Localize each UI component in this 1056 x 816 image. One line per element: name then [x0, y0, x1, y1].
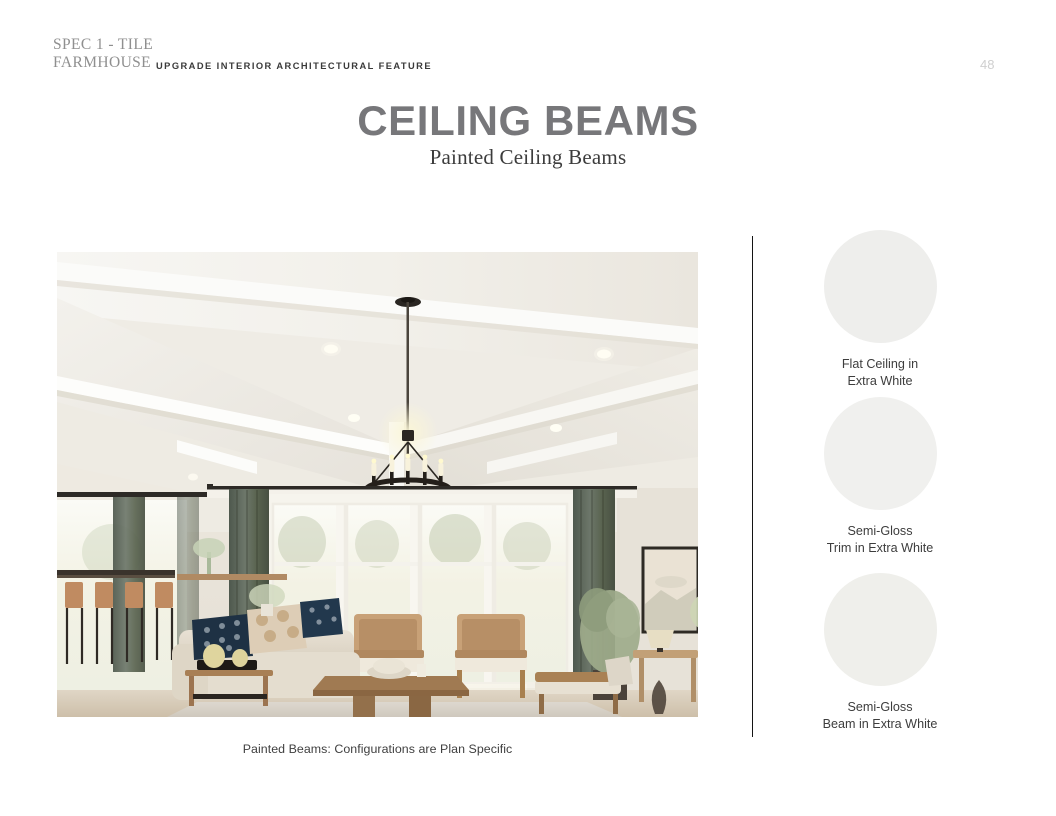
slide-header: SPEC 1 - TILE FARMHOUSE UPGRADE INTERIOR…: [0, 0, 1056, 92]
color-swatch-flat-ceiling: Flat Ceiling in Extra White: [765, 230, 995, 390]
swatch-circle: [824, 230, 937, 343]
swatch-circle: [824, 397, 937, 510]
upgrade-category-label: UPGRADE INTERIOR ARCHITECTURAL FEATURE: [156, 61, 432, 71]
color-swatch-semi-gloss-trim: Semi-Gloss Trim in Extra White: [765, 397, 995, 557]
swatch-label: Flat Ceiling in Extra White: [765, 356, 995, 390]
vertical-divider: [752, 236, 753, 737]
interior-photo-illustration: [57, 252, 698, 717]
swatch-label: Semi-Gloss Trim in Extra White: [765, 523, 995, 557]
swatch-label: Semi-Gloss Beam in Extra White: [765, 699, 995, 733]
page-number: 48: [980, 57, 994, 72]
page-subtitle: Painted Ceiling Beams: [0, 145, 1056, 170]
color-swatch-semi-gloss-beam: Semi-Gloss Beam in Extra White: [765, 573, 995, 733]
swatch-circle: [824, 573, 937, 686]
photo-caption: Painted Beams: Configurations are Plan S…: [57, 742, 698, 756]
page-title: CEILING BEAMS: [0, 97, 1056, 145]
interior-photo: [57, 252, 698, 717]
